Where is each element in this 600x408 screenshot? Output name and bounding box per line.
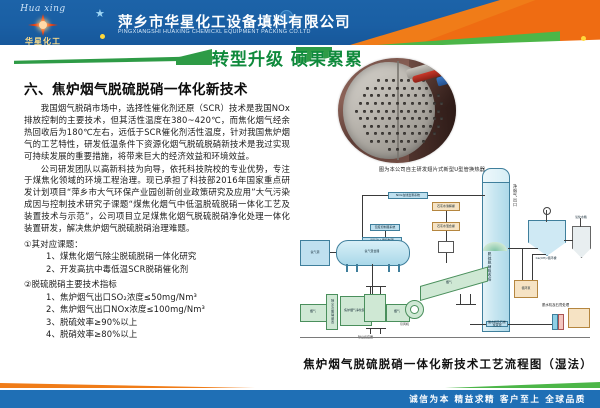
yellow-dot-icon (100, 34, 105, 39)
tower-label: 脱硫脱硝吸收塔 (488, 252, 493, 281)
list-item: 1、煤焦化烟气除尘脱硫脱硝一体化研究 (46, 250, 290, 263)
gypsum-unit-box (568, 308, 590, 328)
diagram-caption: 焦炉烟气脱硫脱硝一体化新技术工艺流程图（湿法） (300, 356, 596, 372)
ammonia-source-box: 氨气源 (300, 240, 330, 266)
footer-slogan: 诚信为本 精益求精 客户至上 全球品质 (409, 393, 586, 405)
gypsum-label: 脱水机及石膏处理 (542, 302, 569, 307)
logo-script-text: Hua xing (12, 4, 74, 14)
article-paragraph-2: 公司研发团队以高新科技为向导，依托科技院校的专业优势，专注于煤焦化领域的环境工程… (24, 164, 290, 235)
list-item: 3、脱硫效率≥90%以上 (46, 316, 290, 329)
lime-mix-box: 石灰水混合罐 (432, 222, 460, 231)
dewater-label-box: 脱水机及石膏浆液池 (486, 321, 508, 327)
stack-outlet-label: 净烟气出口 (512, 184, 518, 207)
banner-arrow-icon (176, 49, 212, 65)
company-name-en: PINGXIANGSHI HUAXING CHEMICXL EQUIPMENT … (118, 29, 311, 35)
heat-exchanger-photo (338, 58, 456, 163)
oxid-tank-label: 氧化水箱 (566, 215, 596, 219)
coke-unit-box: 除尘及脱硝装置 (326, 294, 338, 330)
article-paragraph-1: 我国烟气脱硝市场中，选择性催化剂还原（SCR）技术是我国NOx排放控制的主要技术… (24, 103, 290, 163)
list-item: 2、焦炉烟气出口NOx浓度≤100mg/Nm³ (46, 303, 290, 316)
absorption-tower (482, 182, 510, 332)
page-header: Hua xing 华星化工 ★ 萍乡市华星化工设备填料有限公司 PINGXIAN… (0, 0, 600, 45)
page-footer: 诚信为本 精益求精 客户至上 全球品质 (0, 382, 600, 408)
slogan-banner: 转型升级 硕果累累 (0, 42, 600, 70)
list-item: 2、开发高抗中毒低温SCR脱硝催化剂 (46, 263, 290, 276)
section-heading-1: ①其对应课题： (24, 238, 290, 250)
mixer-label: 氨气混合器 (348, 249, 396, 253)
flue-gas-inlet-duct (300, 304, 328, 322)
ammonia-mixer-vessel (336, 240, 410, 266)
nox-monitor-box: NOx在线监测系统 (388, 192, 428, 199)
list-item: 4、脱硝效率≥80%以上 (46, 328, 290, 341)
dust-remover-box (364, 294, 386, 322)
section-heading-2: ②脱硫脱硝主要技术指标 (24, 278, 290, 290)
star-icon: ★ (95, 7, 105, 20)
page-title: 六、焦炉烟气脱硫脱硝一体化新技术 (24, 78, 290, 98)
oxidation-tank (528, 220, 566, 256)
mist-eliminator-icon (483, 242, 507, 251)
flue-gas-label-3: 烟气 (438, 280, 460, 284)
temp-controller-box: 温度控制器系统 (370, 224, 400, 231)
induced-draft-fan (405, 300, 424, 319)
lime-dissolve-box: 石灰水溶解罐 (432, 202, 460, 211)
four-point-star-icon (28, 14, 58, 36)
flue-gas-label-1: 烟气 (300, 309, 326, 313)
company-logo: Hua xing 华星化工 (12, 4, 74, 45)
circulation-pump-box: 循环泵 (514, 280, 538, 298)
list-item: 1、焦炉烟气出口SO₂浓度≤50mg/Nm³ (46, 291, 290, 304)
process-flow-diagram: 脱硫脱硝吸收塔 净烟气出口 NOx在线监测系统 温度控制器系统 氨气注入量控制器… (300, 182, 598, 357)
caoh-tank-label: Ca(OH)₂循环槽 (524, 256, 568, 260)
poster-page: Hua xing 华星化工 ★ 萍乡市华星化工设备填料有限公司 PINGXIAN… (0, 0, 600, 408)
article-column: 六、焦炉烟气脱硫脱硝一体化新技术 我国烟气脱硝市场中，选择性催化剂还原（SCR）… (24, 78, 290, 341)
fan-label: 引风机 (400, 322, 409, 326)
yellow-dot-right-icon (581, 36, 586, 41)
oxidation-water-tank (572, 226, 591, 258)
lime-hopper (438, 241, 454, 253)
